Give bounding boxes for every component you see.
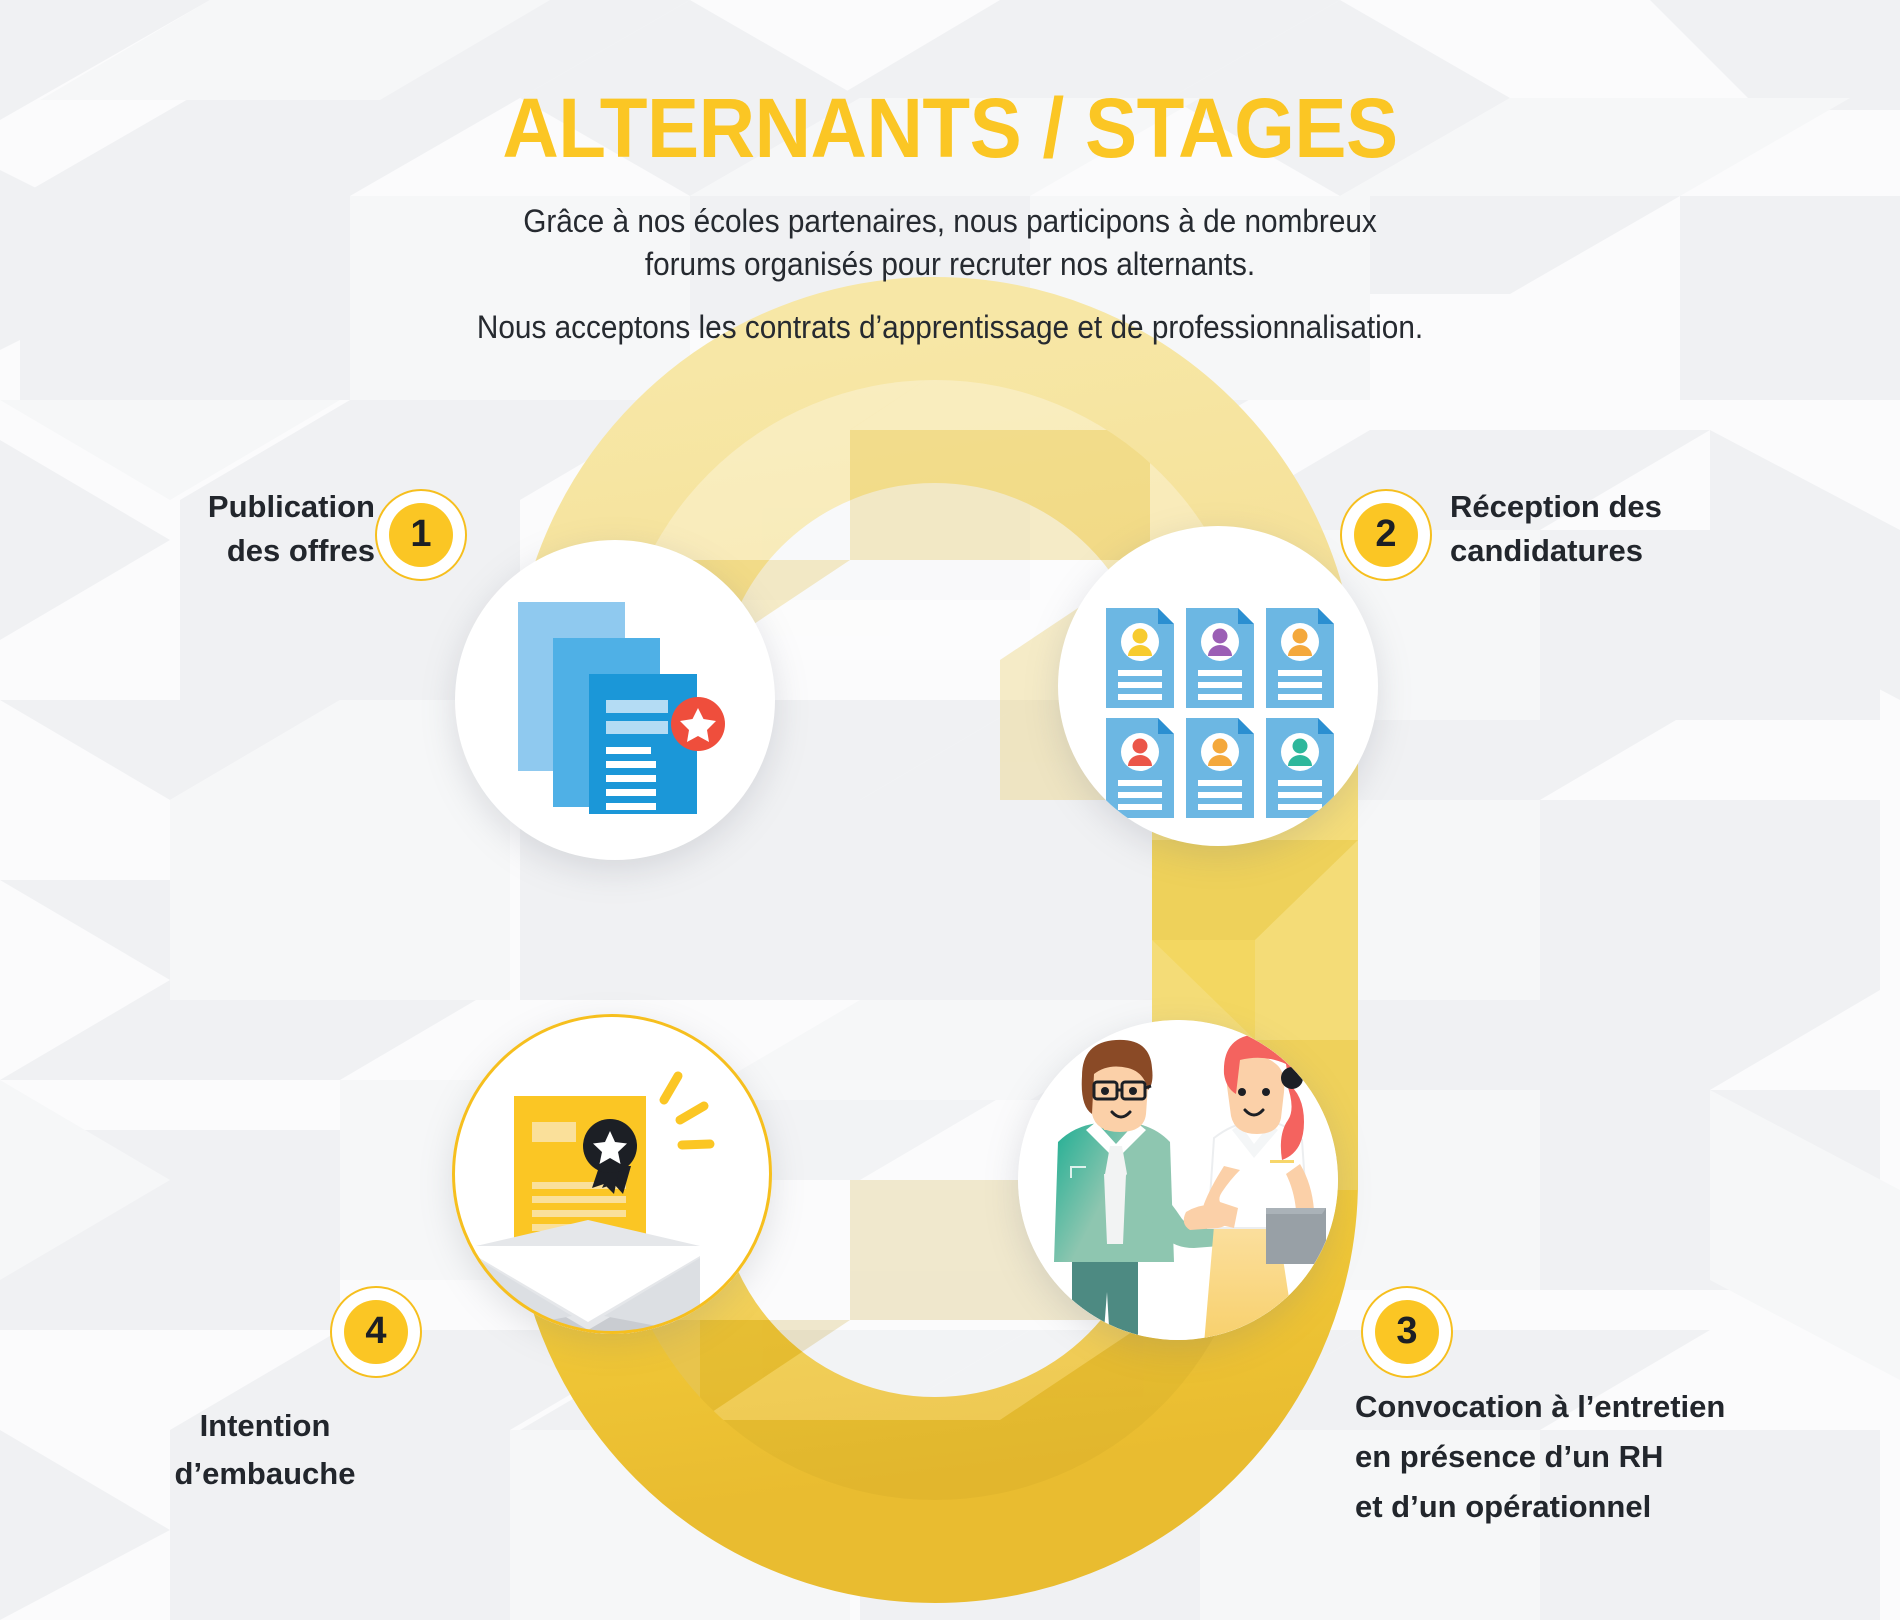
step-2-label-line-1: Réception des	[1450, 485, 1780, 529]
page-subtitle: Grâce à nos écoles partenaires, nous par…	[411, 170, 1490, 349]
step-2-number: 2	[1354, 503, 1418, 567]
step-2-icon-circle[interactable]	[1058, 526, 1378, 846]
step-1-label-line-1: Publication	[95, 485, 375, 529]
step-1-label-line-2: des offres	[95, 529, 375, 573]
step-3-label: Convocation à l’entretien en présence d’…	[1355, 1382, 1835, 1533]
infographic-canvas: ALTERNANTS / STAGES Grâce à nos écoles p…	[0, 0, 1900, 1620]
page-title: ALTERNANTS / STAGES	[67, 0, 1834, 170]
certificate-envelope-icon	[452, 1014, 772, 1334]
step-3-label-line-2: en présence d’un RH	[1355, 1432, 1835, 1482]
cv-grid-icon	[1058, 526, 1378, 846]
step-1-number: 1	[389, 503, 453, 567]
step-2-number-badge[interactable]: 2	[1340, 489, 1432, 581]
subtitle-spacer	[411, 286, 1490, 306]
step-2-label-line-2: candidatures	[1450, 529, 1780, 573]
step-4-number: 4	[344, 1300, 408, 1364]
step-1-number-badge[interactable]: 1	[375, 489, 467, 581]
header: ALTERNANTS / STAGES Grâce à nos écoles p…	[0, 0, 1900, 349]
handshake-interview-icon	[1018, 1020, 1338, 1340]
step-2-label: Réception des candidatures	[1450, 485, 1780, 573]
step-4-number-badge[interactable]: 4	[330, 1286, 422, 1378]
step-3-icon-circle[interactable]	[1018, 1020, 1338, 1340]
step-4-label-line-1: Intention	[110, 1402, 420, 1450]
step-3-label-line-1: Convocation à l’entretien	[1355, 1382, 1835, 1432]
stacked-documents-star-icon	[455, 540, 775, 860]
step-4-label-line-2: d’embauche	[110, 1450, 420, 1498]
subtitle-line-2: forums organisés pour recruter nos alter…	[411, 243, 1490, 286]
step-1-icon-circle[interactable]	[455, 540, 775, 860]
subtitle-line-1: Grâce à nos écoles partenaires, nous par…	[411, 200, 1490, 243]
subtitle-line-3: Nous acceptons les contrats d’apprentiss…	[411, 306, 1490, 349]
step-1-label: Publication des offres	[95, 485, 375, 573]
step-4-label: Intention d’embauche	[110, 1402, 420, 1499]
step-3-label-line-3: et d’un opérationnel	[1355, 1482, 1835, 1532]
step-4-icon-circle[interactable]	[452, 1014, 772, 1334]
step-3-number-badge[interactable]: 3	[1361, 1286, 1453, 1378]
step-3-number: 3	[1375, 1300, 1439, 1364]
